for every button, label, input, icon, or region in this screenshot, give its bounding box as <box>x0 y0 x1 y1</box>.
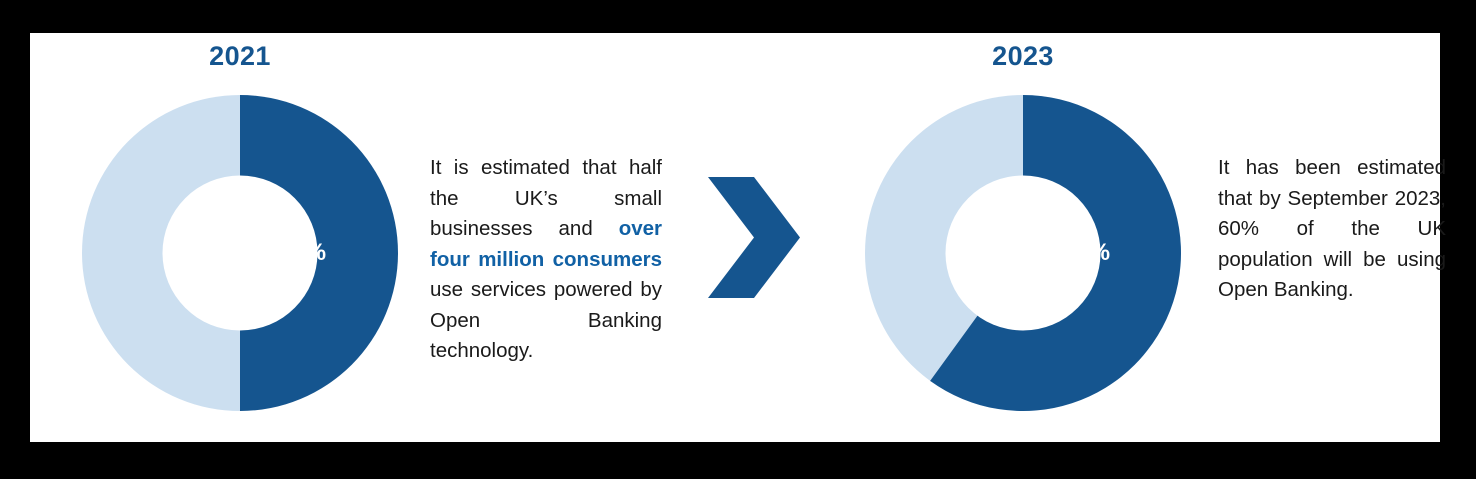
content-card: 2021 50% It is estimated that half the U… <box>30 33 1440 442</box>
panel-2023: 2023 60% It has been estimated that by S… <box>812 33 1440 442</box>
description-2021-part2: use services powered by Open Banking tec… <box>430 278 662 362</box>
chevron-right-svg <box>702 175 802 300</box>
donut-value-label-2023: 60% <box>1062 239 1110 267</box>
donut-svg-2021 <box>82 95 398 411</box>
donut-value-label-2021: 50% <box>278 239 326 267</box>
chevron-right-icon <box>702 175 802 300</box>
donut-chart-2023: 60% <box>865 95 1181 411</box>
panel-2021: 2021 50% It is estimated that half the U… <box>30 33 670 442</box>
description-2021: It is estimated that half the UK’s small… <box>430 153 662 367</box>
year-label-2023: 2023 <box>865 41 1181 72</box>
donut-chart-2021: 50% <box>82 95 398 411</box>
donut-svg-2023 <box>865 95 1181 411</box>
chevron-shape <box>708 177 800 298</box>
infographic-root: 2021 50% It is estimated that half the U… <box>0 0 1476 479</box>
description-2023-part1: It has been estimated that by September … <box>1218 156 1446 301</box>
year-label-2021: 2021 <box>82 41 398 72</box>
description-2023: It has been estimated that by September … <box>1218 153 1446 306</box>
